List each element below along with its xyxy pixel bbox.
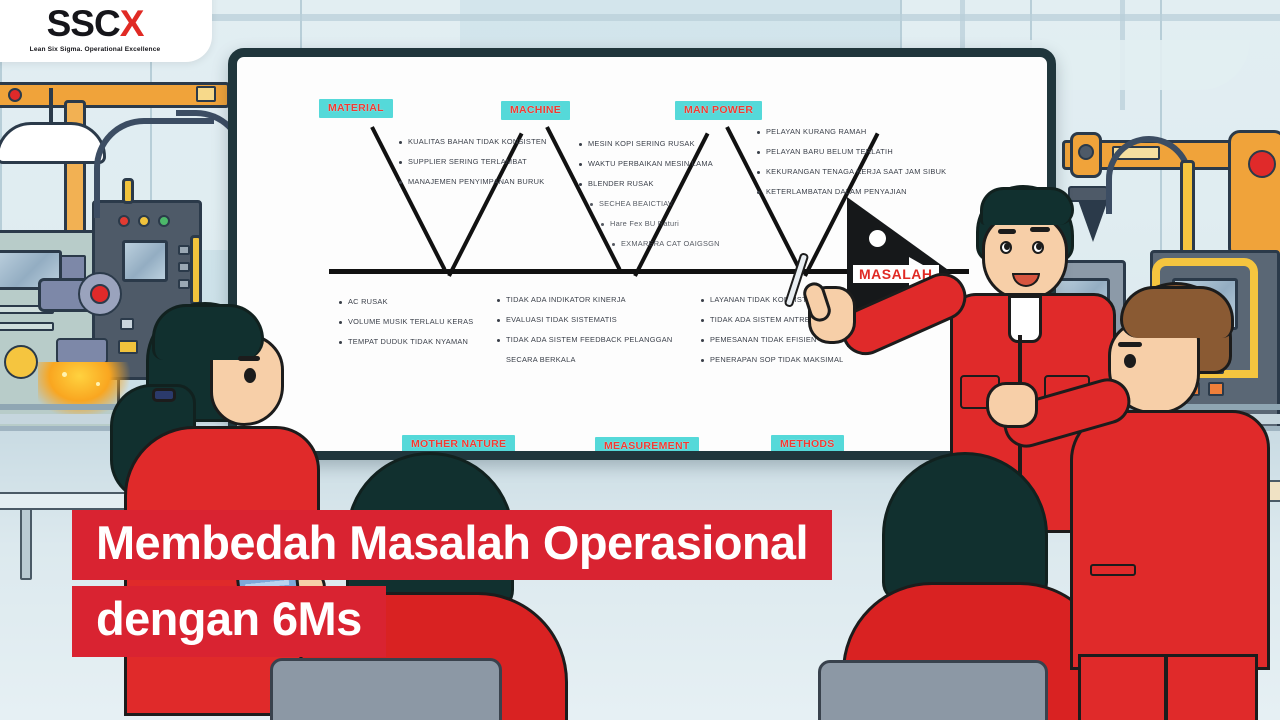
machine-slot (0, 322, 54, 331)
meeting-table-leg (20, 508, 32, 580)
presenter-face (982, 213, 1068, 301)
machine-dial (4, 345, 38, 379)
cause-item: KUALITAS BAHAN TIDAK KONSISTEN (397, 137, 547, 147)
hair-tie (152, 388, 176, 402)
cause-item: AC RUSAK (337, 297, 473, 307)
chair-back-center (270, 658, 502, 720)
presenter-pupil-right (1036, 243, 1042, 250)
gantry-panel (196, 86, 216, 102)
attendee-brow (238, 356, 260, 361)
brand-logo: SSCX Lean Six Sigma. Operational Excelle… (0, 0, 212, 62)
cause-item: PELAYAN KURANG RAMAH (755, 127, 946, 137)
cause-item: SECHEA BEAICTIAV (577, 199, 720, 209)
console-column (190, 235, 202, 305)
title-banner: Membedah Masalah Operasional dengan 6Ms (72, 510, 832, 657)
presenter-brow-right (1030, 227, 1050, 232)
cause-list-machine: MESIN KOPI SERING RUSAKWAKTU PERBAIKAN M… (577, 139, 720, 259)
console-button (178, 279, 190, 289)
console-screen (122, 240, 168, 282)
cause-list-manpower: PELAYAN KURANG RAMAHPELAYAN BARU BELUM T… (755, 127, 946, 207)
cause-list-material: KUALITAS BAHAN TIDAK KONSISTENSUPPLIER S… (397, 137, 547, 197)
fish-eye (869, 230, 886, 247)
attendee-fringe (152, 304, 264, 360)
whiteboard-surface: MATERIAL MACHINE MAN POWER MOTHER NATURE… (237, 57, 1047, 451)
standing-brow (1118, 342, 1142, 347)
cause-item: MESIN KOPI SERING RUSAK (577, 139, 720, 149)
cause-item: MANAJEMEN PENYIMPANAN BURUK (397, 177, 547, 187)
cause-item: VOLUME MUSIK TERLALU KERAS (337, 317, 473, 327)
work-lamp (0, 122, 106, 164)
poster-canvas: MATERIAL MACHINE MAN POWER MOTHER NATURE… (0, 0, 1280, 720)
cause-item: KEKURANGAN TENAGA KERJA SAAT JAM SIBUK (755, 167, 946, 177)
category-label-machine[interactable]: MACHINE (501, 101, 570, 120)
logo-text-x: X (120, 3, 144, 44)
cause-item: TIDAK ADA INDIKATOR KINERJA (495, 295, 672, 305)
cause-item: TIDAK ADA SISTEM FEEDBACK PELANGGAN (495, 335, 672, 345)
cause-item: Hare Fex BU Raturi (577, 219, 720, 229)
presenter-pupil-left (1004, 243, 1010, 250)
standing-leg-seam (1164, 654, 1168, 720)
drill-core (90, 284, 110, 304)
spark-fleck (62, 372, 67, 377)
attendee-standing-right (1094, 282, 1274, 720)
chair-back-right (818, 660, 1048, 720)
category-label-measurement[interactable]: MEASUREMENT (595, 437, 699, 451)
indicator-light (8, 88, 22, 102)
cause-item: KETERLAMBATAN DALAM PENYAJIAN (755, 187, 946, 197)
cause-list-measurement: TIDAK ADA INDIKATOR KINERJAEVALUASI TIDA… (495, 295, 672, 375)
cause-item: SUPPLIER SERING TERLAMBAT (397, 157, 547, 167)
title-line-2: dengan 6Ms (72, 586, 386, 656)
cause-item: WAKTU PERBAIKAN MESIN LAMA (577, 159, 720, 169)
presenter-shirt (1008, 295, 1042, 343)
spark-fleck (96, 382, 100, 386)
standing-fringe (1120, 286, 1234, 338)
standing-torso (1070, 410, 1270, 670)
seated-hair-right (882, 452, 1048, 602)
robot-arm-lens (1248, 150, 1276, 178)
standing-hand (986, 382, 1038, 428)
cause-list-mothernature: AC RUSAKVOLUME MUSIK TERLALU KERASTEMPAT… (337, 297, 473, 357)
whiteboard[interactable]: MATERIAL MACHINE MAN POWER MOTHER NATURE… (228, 48, 1056, 460)
drill-chuck (56, 338, 108, 364)
logo-wordmark: SSCX (47, 5, 144, 42)
cause-item: PELAYAN BARU BELUM TERLATIH (755, 147, 946, 157)
presenter-brow-left (998, 229, 1016, 234)
cause-item: BLENDER RUSAK (577, 179, 720, 189)
category-label-methods[interactable]: METHODS (771, 435, 844, 451)
cause-item: PENERAPAN SOP TIDAK MAKSIMAL (699, 355, 844, 365)
standing-eye (1124, 354, 1136, 368)
console-button (178, 262, 190, 272)
robot-arm-pivot (1078, 144, 1094, 160)
cause-item: EVALUASI TIDAK SISTEMATIS (495, 315, 672, 325)
logo-tagline: Lean Six Sigma. Operational Excellence (30, 46, 161, 53)
console-button (178, 245, 190, 255)
presenter-fringe (980, 187, 1074, 225)
title-line-1: Membedah Masalah Operasional (72, 510, 832, 580)
standing-legs (1078, 654, 1258, 720)
category-label-manpower[interactable]: MAN POWER (675, 101, 762, 120)
category-label-mothernature[interactable]: MOTHER NATURE (402, 435, 515, 451)
robot-arm-head (1228, 130, 1280, 260)
cause-item: SECARA BERKALA (495, 355, 672, 365)
standing-pocket (1090, 564, 1136, 576)
attendee-eye (244, 368, 256, 383)
logo-text-ssc: SSC (47, 3, 120, 44)
cause-item: TEMPAT DUDUK TIDAK NYAMAN (337, 337, 473, 347)
category-label-material[interactable]: MATERIAL (319, 99, 393, 118)
cause-item: EXMARERA CAT OAIGSGN (577, 239, 720, 249)
